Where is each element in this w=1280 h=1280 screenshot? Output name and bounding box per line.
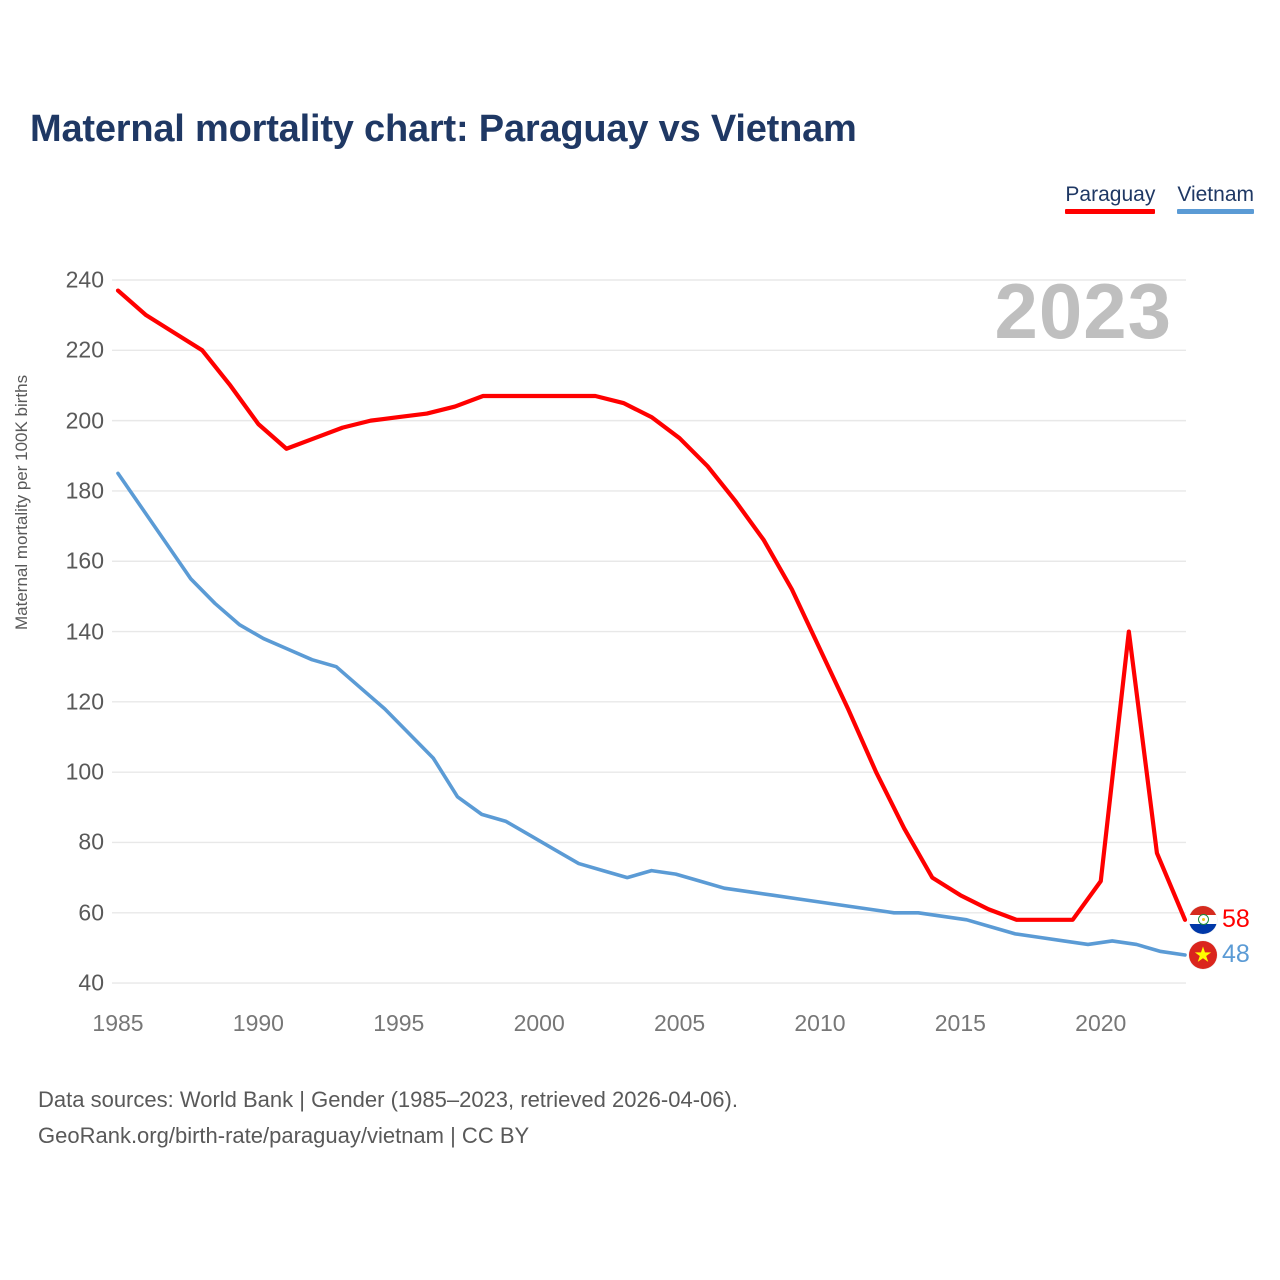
y-axis-tick-label: 160 xyxy=(34,548,104,575)
y-axis-tick-label: 80 xyxy=(34,829,104,856)
footer-line-1: Data sources: World Bank | Gender (1985–… xyxy=(38,1082,738,1118)
series-line-paraguay xyxy=(118,291,1185,920)
x-axis-tick-label: 2015 xyxy=(915,1010,1005,1037)
end-marker-paraguay: 58 xyxy=(1189,906,1250,934)
end-marker-vietnam: 48 xyxy=(1189,941,1250,969)
series-line-vietnam xyxy=(118,473,1185,955)
x-axis-tick-label: 2005 xyxy=(635,1010,725,1037)
footer-attribution: Data sources: World Bank | Gender (1985–… xyxy=(38,1082,738,1155)
paraguay-flag-icon xyxy=(1189,906,1217,934)
end-value-paraguay: 58 xyxy=(1222,907,1250,932)
end-value-vietnam: 48 xyxy=(1222,942,1250,967)
x-axis-tick-label: 2020 xyxy=(1056,1010,1146,1037)
x-axis-tick-label: 2010 xyxy=(775,1010,865,1037)
y-axis-tick-label: 60 xyxy=(34,899,104,926)
vietnam-flag-icon xyxy=(1189,941,1217,969)
y-axis-tick-label: 240 xyxy=(34,267,104,294)
series-lines xyxy=(118,291,1185,955)
gridlines xyxy=(112,280,1186,983)
x-axis-tick-label: 1990 xyxy=(213,1010,303,1037)
footer-line-2: GeoRank.org/birth-rate/paraguay/vietnam … xyxy=(38,1118,738,1154)
y-axis-tick-label: 140 xyxy=(34,618,104,645)
y-axis-tick-label: 180 xyxy=(34,477,104,504)
y-axis-tick-label: 220 xyxy=(34,337,104,364)
y-axis-title: Maternal mortality per 100K births xyxy=(12,375,32,630)
x-axis-tick-label: 2000 xyxy=(494,1010,584,1037)
x-axis-tick-label: 1995 xyxy=(354,1010,444,1037)
y-axis-tick-label: 40 xyxy=(34,970,104,997)
y-axis-tick-label: 100 xyxy=(34,759,104,786)
y-axis-tick-label: 120 xyxy=(34,688,104,715)
x-axis-tick-label: 1985 xyxy=(73,1010,163,1037)
y-axis-tick-label: 200 xyxy=(34,407,104,434)
chart-page: Maternal mortality chart: Paraguay vs Vi… xyxy=(0,0,1280,1280)
